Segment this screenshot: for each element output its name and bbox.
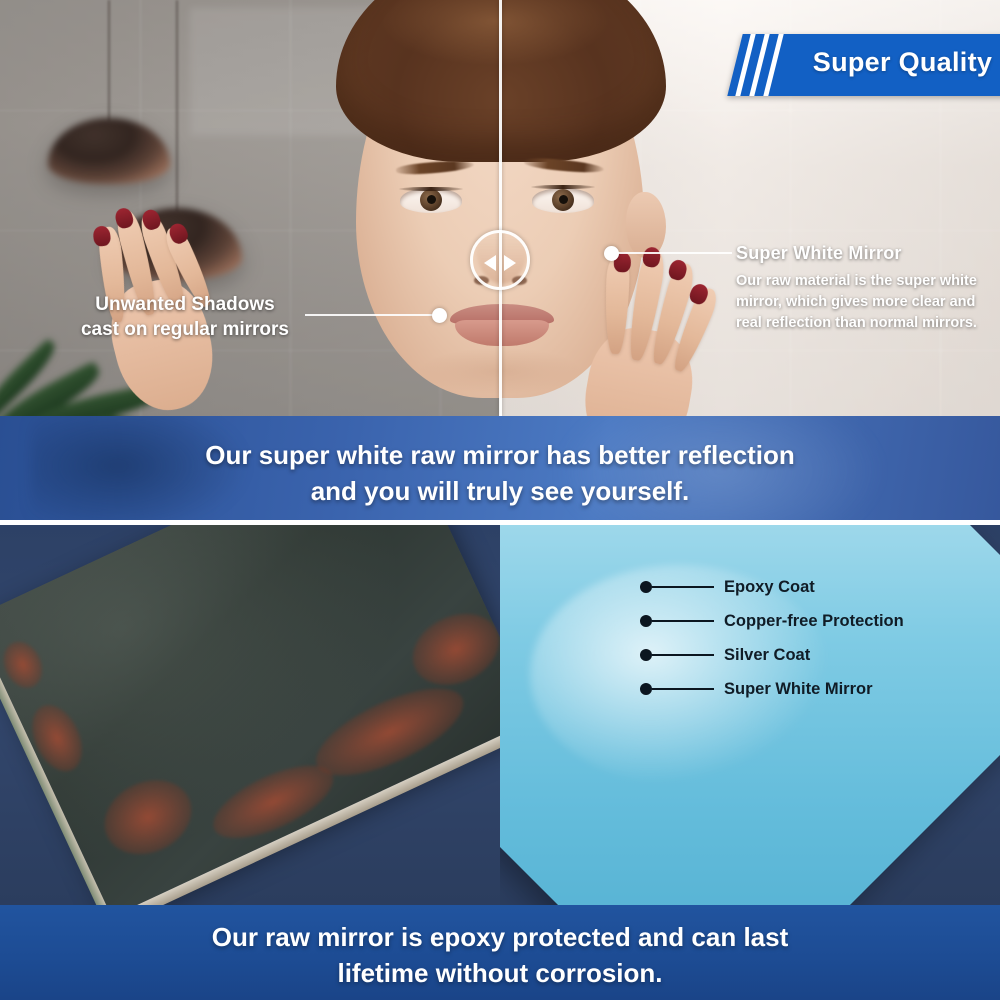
eyelash-left: [399, 187, 463, 191]
layer-label: Copper-free Protection: [724, 612, 904, 631]
super-quality-label: Super Quality: [795, 47, 1000, 78]
lower-lip: [455, 320, 549, 346]
lips: [450, 304, 554, 348]
layer-dot-icon: [640, 581, 652, 593]
pupil: [559, 195, 568, 204]
competitor-panel: [0, 525, 500, 905]
leader-line-right: [616, 252, 732, 254]
pendant-lamp-cord: [176, 0, 178, 212]
arrow-right-icon: [504, 255, 516, 271]
pendant-lamp-cord: [108, 0, 110, 122]
leader-line-left: [305, 314, 437, 316]
callout-left-line1: Unwanted Shadows: [60, 292, 310, 317]
bottom-headline-line2: lifetime without corrosion.: [0, 955, 1000, 991]
layer-item: Epoxy Coat: [640, 570, 970, 604]
layer-item: Silver Coat: [640, 638, 970, 672]
callout-super-white-mirror: Super White Mirror Our raw material is t…: [736, 243, 980, 334]
bottom-headline-line1: Our raw mirror is epoxy protected and ca…: [0, 919, 1000, 955]
mid-headline-band: Our super white raw mirror has better re…: [0, 416, 1000, 520]
mid-headline-line1: Our super white raw mirror has better re…: [0, 438, 1000, 474]
mid-headline-text: Our super white raw mirror has better re…: [0, 438, 1000, 510]
corroded-mirror-sample: [0, 525, 500, 905]
layer-label: Epoxy Coat: [724, 578, 815, 597]
callout-right-title: Super White Mirror: [736, 243, 980, 264]
infographic-page: Unwanted Shadows cast on regular mirrors…: [0, 0, 1000, 1000]
before-after-divider[interactable]: [499, 0, 502, 416]
layer-leader-line: [652, 586, 714, 588]
eye-right: [532, 188, 594, 213]
layer-item: Copper-free Protection: [640, 604, 970, 638]
layer-dot-icon: [640, 615, 652, 627]
eyelash-right: [531, 185, 595, 189]
arrow-left-icon: [484, 255, 496, 271]
layer-label: Super White Mirror: [724, 680, 873, 699]
layer-leader-line: [652, 620, 714, 622]
before-after-slider-handle[interactable]: [470, 230, 530, 290]
bottom-headline-band: Our raw mirror is epoxy protected and ca…: [0, 905, 1000, 1000]
layer-dot-icon: [640, 649, 652, 661]
leader-dot-left: [432, 308, 447, 323]
iris: [552, 189, 574, 211]
bottom-headline-text: Our raw mirror is epoxy protected and ca…: [0, 919, 1000, 992]
layer-leader-line: [652, 688, 714, 690]
callout-left-line2: cast on regular mirrors: [60, 317, 310, 342]
mid-headline-line2: and you will truly see yourself.: [0, 474, 1000, 510]
hero-comparison-photo: Unwanted Shadows cast on regular mirrors…: [0, 0, 1000, 416]
eye-left: [400, 188, 462, 213]
mirror-layer-legend: Epoxy Coat Copper-free Protection Silver…: [640, 570, 970, 706]
layer-label: Silver Coat: [724, 646, 810, 665]
layer-item: Super White Mirror: [640, 672, 970, 706]
layer-leader-line: [652, 654, 714, 656]
callout-right-body: Our raw material is the super white mirr…: [736, 271, 980, 334]
iris: [420, 189, 442, 211]
layer-dot-icon: [640, 683, 652, 695]
pupil: [427, 195, 436, 204]
callout-unwanted-shadows: Unwanted Shadows cast on regular mirrors: [60, 292, 310, 343]
